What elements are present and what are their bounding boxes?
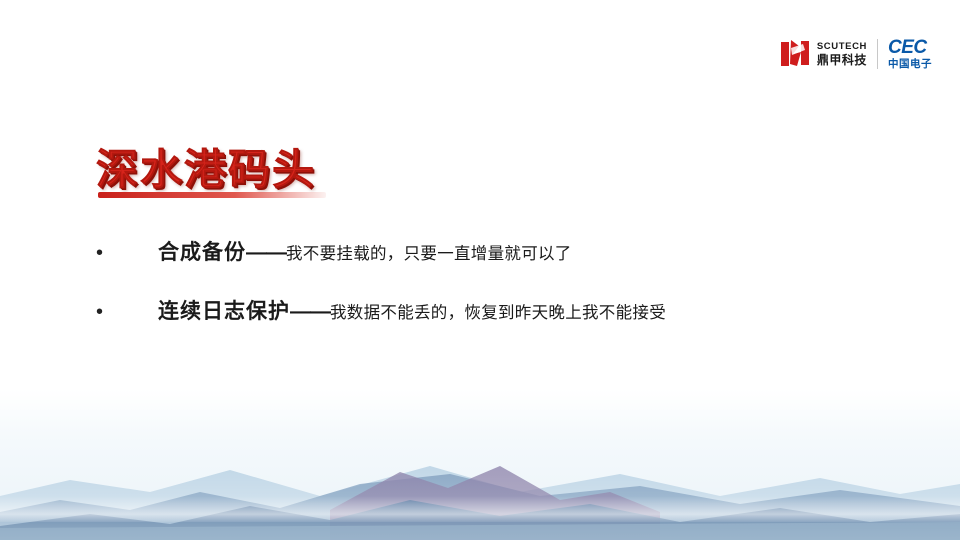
cec-logo-english: CEC xyxy=(888,38,932,58)
bullet-list: • 合成备份——我不要挂载的，只要一直增量就可以了 • 连续日志保护——我数据不… xyxy=(96,238,896,356)
bullet-dash: —— xyxy=(290,300,330,323)
cec-logo: CEC 中国电子 xyxy=(888,37,932,71)
mountain-background-illustration xyxy=(0,400,960,540)
bullet-lead-text: 合成备份 xyxy=(158,241,246,264)
bullet-marker: • xyxy=(96,299,158,325)
bullet-tail-text: 我数据不能丢的，恢复到昨天晚上我不能接受 xyxy=(330,304,666,322)
scutech-logo-english: SCUTECH xyxy=(817,40,867,53)
logo-bar: SCUTECH 鼎甲科技 CEC 中国电子 xyxy=(779,34,932,74)
scutech-logo-chinese: 鼎甲科技 xyxy=(817,53,867,68)
title-underline-accent xyxy=(98,192,326,198)
bullet-lead-text: 连续日志保护 xyxy=(158,300,290,323)
slide-title: 深水港码头 xyxy=(96,136,316,197)
scutech-logo-text: SCUTECH 鼎甲科技 xyxy=(817,37,867,71)
list-item: • 连续日志保护——我数据不能丢的，恢复到昨天晚上我不能接受 xyxy=(96,297,896,329)
scutech-logo-mark-icon xyxy=(779,38,813,70)
scutech-logo: SCUTECH 鼎甲科技 xyxy=(779,34,867,74)
list-item: • 合成备份——我不要挂载的，只要一直增量就可以了 xyxy=(96,238,896,270)
logo-divider xyxy=(877,39,878,69)
bullet-marker: • xyxy=(96,240,158,266)
bullet-content: 合成备份——我不要挂载的，只要一直增量就可以了 xyxy=(158,238,572,270)
bullet-dash: —— xyxy=(246,241,286,264)
bullet-tail-text: 我不要挂载的，只要一直增量就可以了 xyxy=(286,245,572,263)
presentation-slide: SCUTECH 鼎甲科技 CEC 中国电子 深水港码头 • 合成备份——我不要挂… xyxy=(0,0,960,540)
bullet-content: 连续日志保护——我数据不能丢的，恢复到昨天晚上我不能接受 xyxy=(158,297,666,329)
cec-logo-chinese: 中国电子 xyxy=(888,58,932,71)
